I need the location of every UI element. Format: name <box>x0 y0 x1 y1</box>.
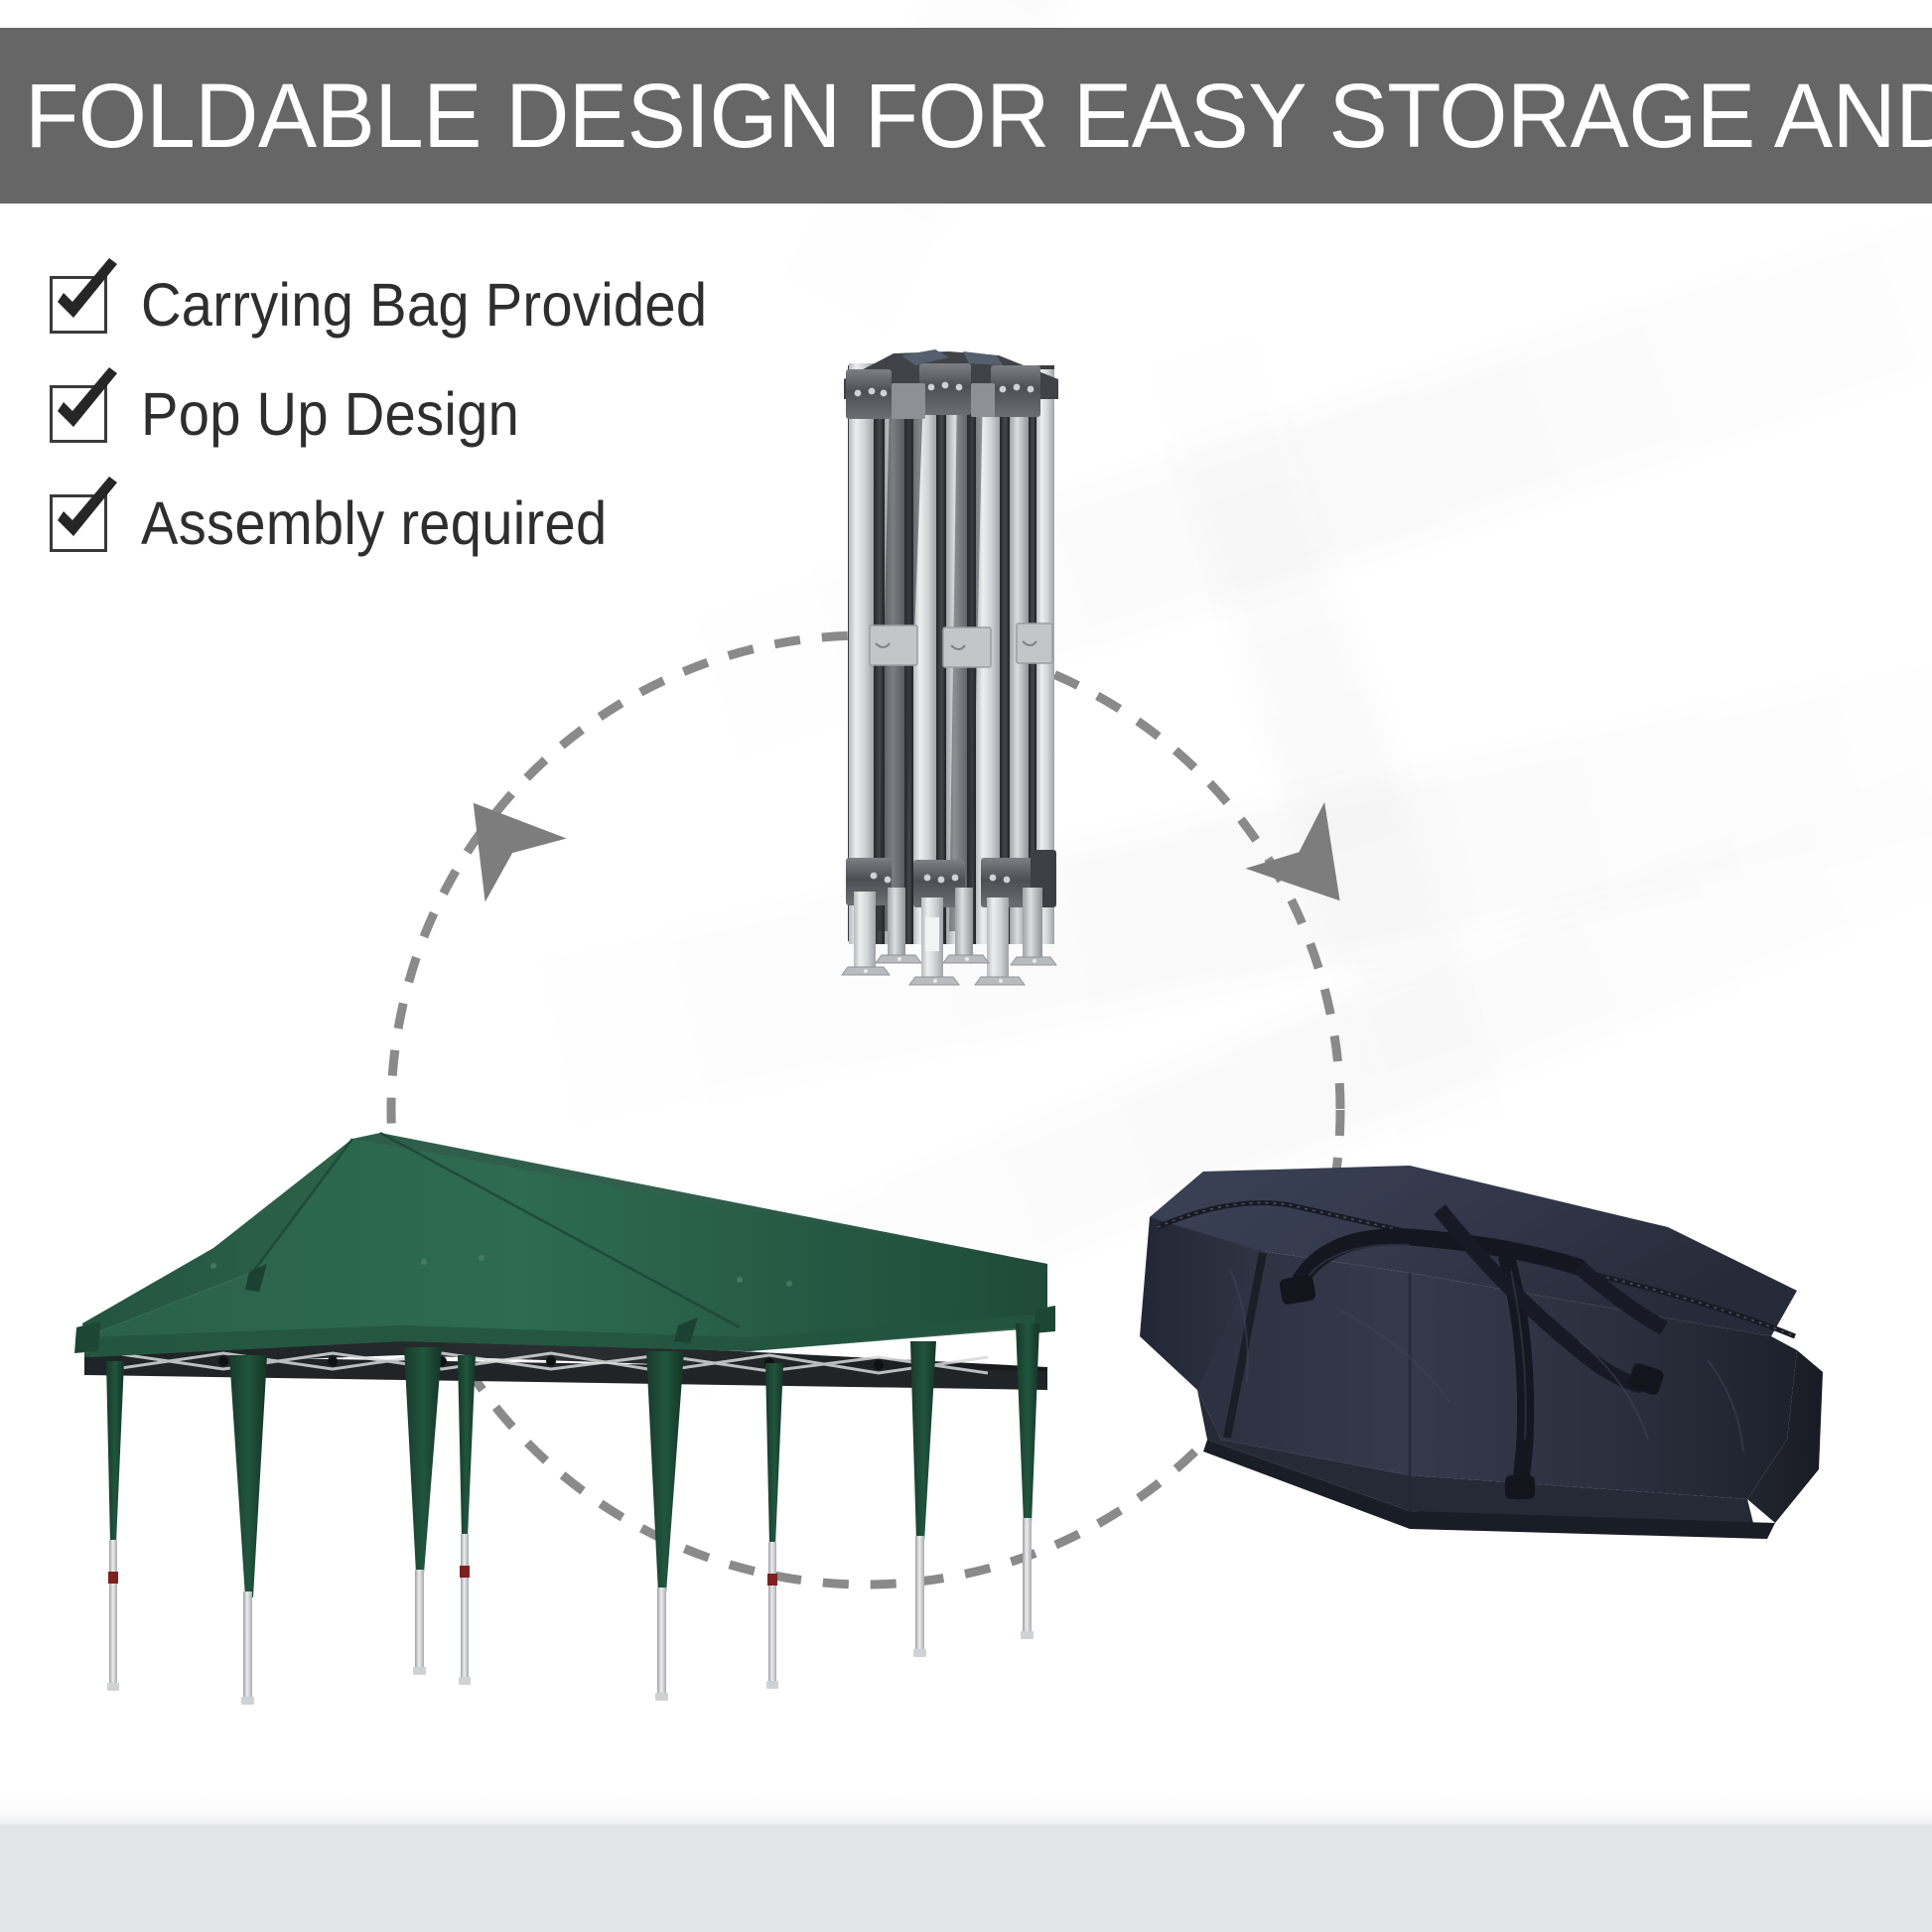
arrow-left-up-icon <box>433 771 567 902</box>
frame-top-brackets <box>844 349 1058 419</box>
checkbox-checked-icon <box>50 494 107 552</box>
banner-title: FOLDABLE DESIGN FOR EASY STORAGE AND TRA… <box>0 70 1932 162</box>
green-pop-up-gazebo <box>55 1077 1057 1713</box>
feature-label: Carrying Bag Provided <box>141 270 707 340</box>
feature-list: Carrying Bag Provided Pop Up Design Asse… <box>44 250 858 578</box>
feature-label: Pop Up Design <box>141 379 519 449</box>
bottom-fade <box>0 1793 1932 1827</box>
folded-gazebo-frame <box>832 336 1080 1003</box>
list-item: Carrying Bag Provided <box>44 250 858 359</box>
infographic-canvas: FOLDABLE DESIGN FOR EASY STORAGE AND TRA… <box>0 0 1932 1932</box>
list-item: Pop Up Design <box>44 359 858 469</box>
frame-mid-hinges <box>870 623 1052 667</box>
carrying-bag <box>1112 1142 1847 1618</box>
feature-label: Assembly required <box>141 488 607 558</box>
checkbox-checked-icon <box>50 276 107 334</box>
arrow-right-down-icon <box>1245 802 1379 934</box>
list-item: Assembly required <box>44 469 858 578</box>
bottom-band <box>0 1825 1932 1932</box>
checkbox-checked-icon <box>50 385 107 443</box>
header-banner: FOLDABLE DESIGN FOR EASY STORAGE AND TRA… <box>0 28 1932 204</box>
gazebo-legs-back <box>106 1355 783 1689</box>
